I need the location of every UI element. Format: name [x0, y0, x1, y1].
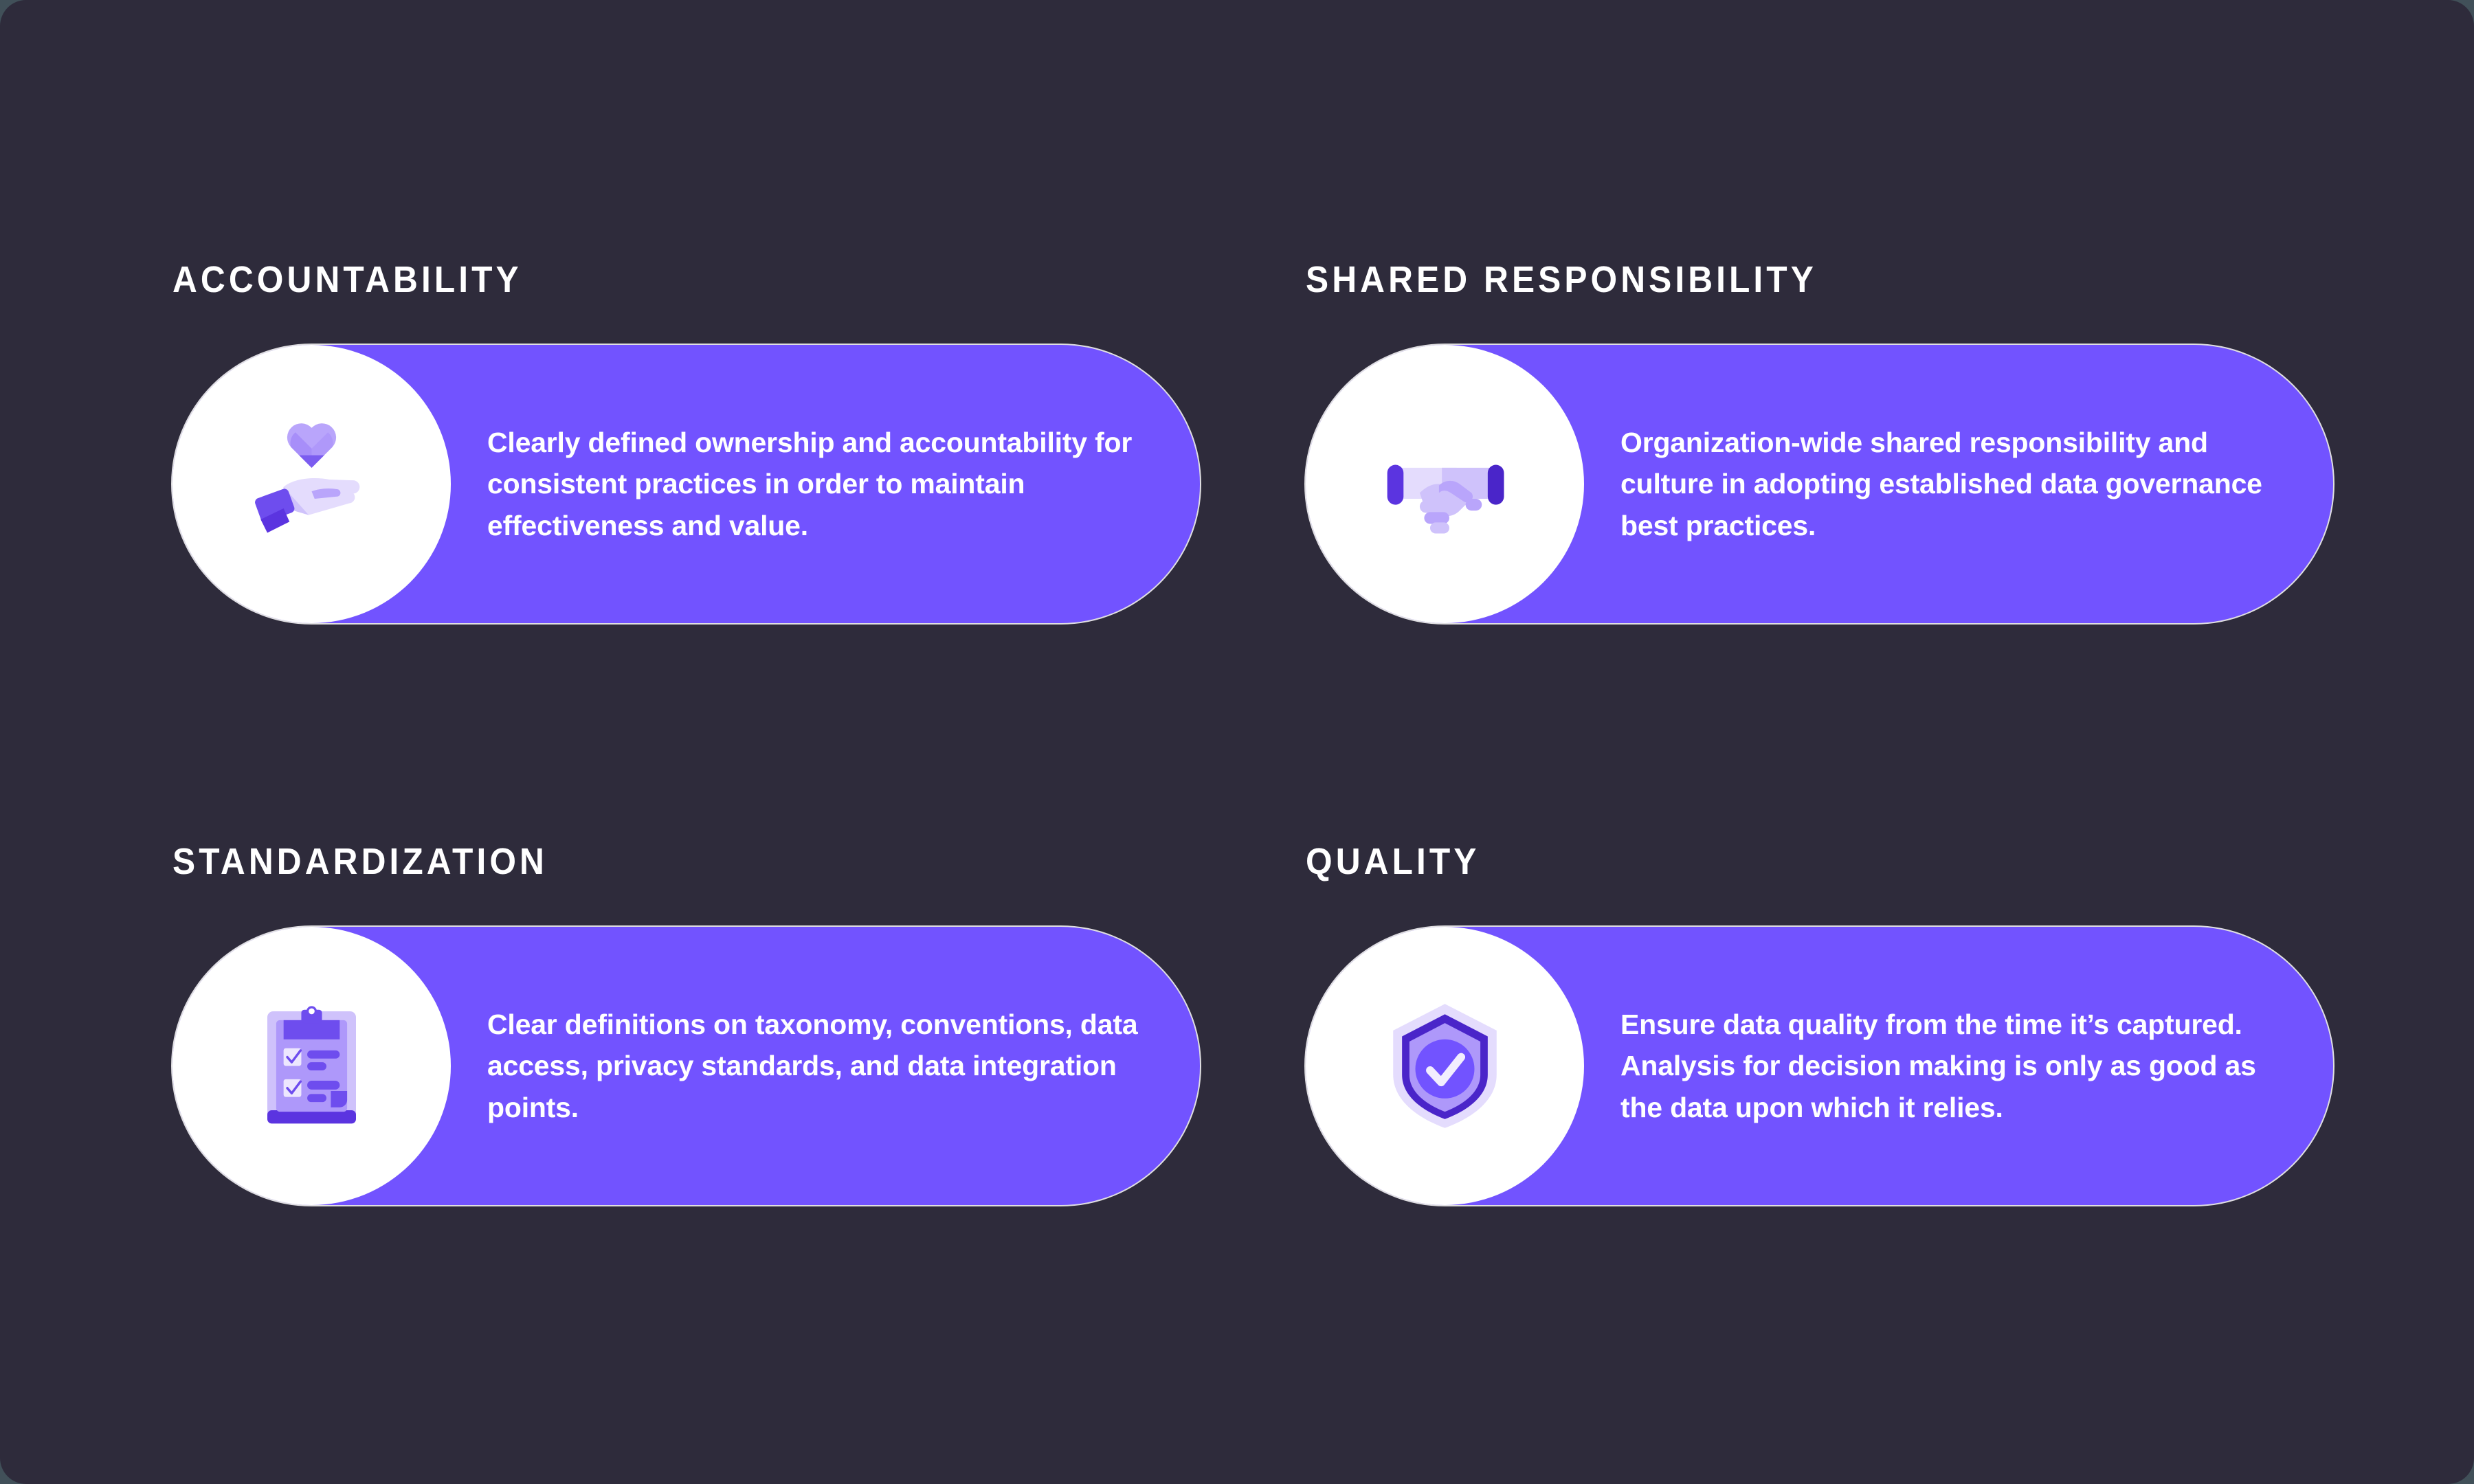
- hand-holding-heart-icon: [238, 410, 386, 558]
- card-heading: SHARED RESPONSIBILITY: [1306, 261, 2251, 298]
- icon-circle: [172, 927, 451, 1205]
- principle-card-accountability: ACCOUNTABILITY: [172, 261, 1200, 623]
- principle-card-standardization: STANDARDIZATION: [172, 843, 1200, 1205]
- principle-pill: Organization-wide shared responsibility …: [1306, 345, 2333, 623]
- card-heading: ACCOUNTABILITY: [172, 261, 1117, 298]
- principles-grid: ACCOUNTABILITY: [172, 261, 2303, 1205]
- card-body: Clearly defined ownership and accountabi…: [487, 422, 1157, 546]
- card-body: Clear definitions on taxonomy, conventio…: [487, 1004, 1157, 1128]
- card-heading: QUALITY: [1306, 843, 2251, 880]
- card-body: Ensure data quality from the time it’s c…: [1620, 1004, 2291, 1128]
- icon-circle: [172, 345, 451, 623]
- card-body: Organization-wide shared responsibility …: [1620, 422, 2291, 546]
- infographic-page: ACCOUNTABILITY: [0, 0, 2474, 1484]
- card-heading: STANDARDIZATION: [172, 843, 1117, 880]
- principle-pill: Ensure data quality from the time it’s c…: [1306, 927, 2333, 1205]
- icon-circle: [1306, 345, 1584, 623]
- icon-circle: [1306, 927, 1584, 1205]
- principle-pill: Clearly defined ownership and accountabi…: [172, 345, 1200, 623]
- principle-pill: Clear definitions on taxonomy, conventio…: [172, 927, 1200, 1205]
- clipboard-checklist-icon: [238, 992, 386, 1140]
- handshake-icon: [1371, 410, 1519, 558]
- principle-card-shared-responsibility: SHARED RESPONSIBILITY: [1306, 261, 2333, 623]
- shield-check-icon: [1371, 992, 1519, 1140]
- principle-card-quality: QUALITY Ensu: [1306, 843, 2333, 1205]
